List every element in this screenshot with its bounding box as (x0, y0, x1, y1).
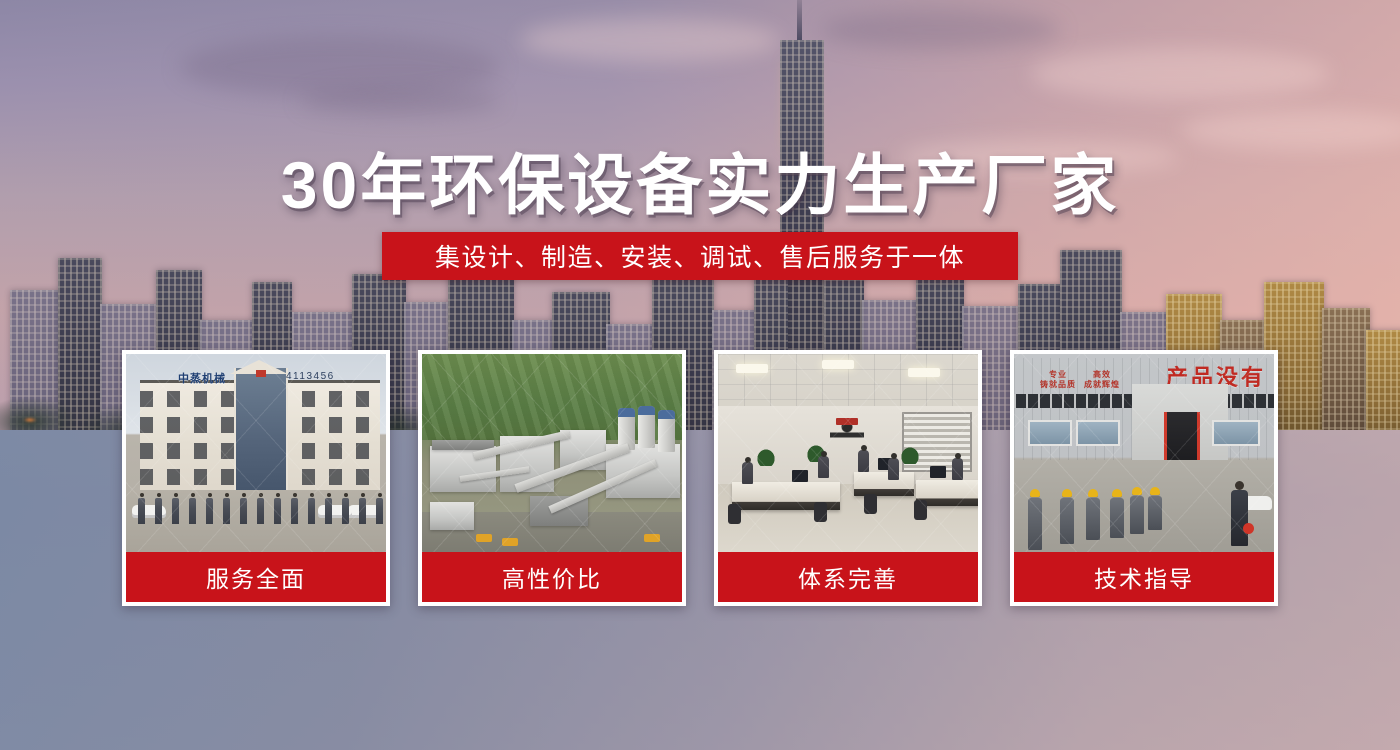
promo-banner-stage: 30年环保设备实力生产厂家 集设计、制造、安装、调试、售后服务于一体 中蒸机械 … (0, 0, 1400, 750)
monitor (930, 466, 946, 478)
worker-training-photo: 产品没有 专业 铸就品质 高效 成就辉煌 (1014, 354, 1274, 552)
office-worker (952, 458, 963, 480)
office-plant (900, 446, 920, 464)
worker (1060, 498, 1074, 544)
worker (1086, 498, 1100, 540)
page-title: 30年环保设备实力生产厂家 (0, 132, 1400, 228)
factory-slogan: 专业 铸就品质 (1040, 370, 1076, 390)
card-caption: 高性价比 (422, 552, 682, 602)
card-caption: 体系完善 (718, 552, 978, 602)
building-phone-text: 4113456 (286, 371, 335, 382)
factory-window (1212, 420, 1260, 446)
worker (1110, 498, 1124, 538)
ceiling-light (736, 364, 768, 373)
office-chair (728, 504, 741, 524)
worker (1130, 496, 1144, 534)
feature-card[interactable]: 产品没有 专业 铸就品质 高效 成就辉煌 (1010, 350, 1278, 606)
office-worker (742, 462, 753, 484)
factory-door (1164, 412, 1200, 462)
factory-window (1028, 420, 1072, 446)
office-chair (914, 500, 927, 520)
company-headquarters-photo: 中蒸机械 4113456 (126, 354, 386, 552)
wall-emblem (830, 416, 864, 446)
feature-card[interactable]: 高性价比 (418, 350, 686, 606)
red-helmet-icon (1243, 523, 1254, 534)
aerial-plant-photo (422, 354, 682, 552)
card-caption: 技术指导 (1014, 552, 1274, 602)
feature-card[interactable]: 体系完善 (714, 350, 982, 606)
ceiling-light (908, 368, 940, 377)
instructor (1231, 490, 1248, 546)
office-chair (864, 494, 877, 514)
building-atrium (234, 368, 288, 492)
office-chair (814, 502, 827, 522)
staff-row (138, 494, 382, 524)
factory-slogan-line1: 高效 (1093, 370, 1111, 379)
office-worker (888, 458, 899, 480)
worker (1148, 496, 1162, 530)
factory-slogan-line1: 专业 (1049, 370, 1067, 379)
factory-window (1076, 420, 1120, 446)
subtitle-banner: 集设计、制造、安装、调试、售后服务于一体 (382, 232, 1018, 280)
subtitle-text: 集设计、制造、安装、调试、售后服务于一体 (435, 238, 965, 274)
worker (1028, 498, 1042, 550)
flag-icon (256, 370, 266, 377)
office-worker (818, 456, 829, 478)
feature-card-list: 中蒸机械 4113456 (122, 350, 1278, 606)
office-worker (858, 450, 869, 472)
factory-slogan-line2: 成就辉煌 (1084, 380, 1120, 389)
building-logo-text: 中蒸机械 (178, 370, 226, 386)
office-desk (854, 472, 914, 496)
feature-card[interactable]: 中蒸机械 4113456 (122, 350, 390, 606)
factory-slogan: 高效 成就辉煌 (1084, 370, 1120, 390)
industrial-plant (430, 410, 682, 552)
card-caption: 服务全面 (126, 552, 386, 602)
monitor (792, 470, 808, 482)
office-interior-photo (718, 354, 978, 552)
office-plant (756, 448, 776, 466)
ceiling-light (822, 360, 854, 369)
factory-slogan-line2: 铸就品质 (1040, 380, 1076, 389)
